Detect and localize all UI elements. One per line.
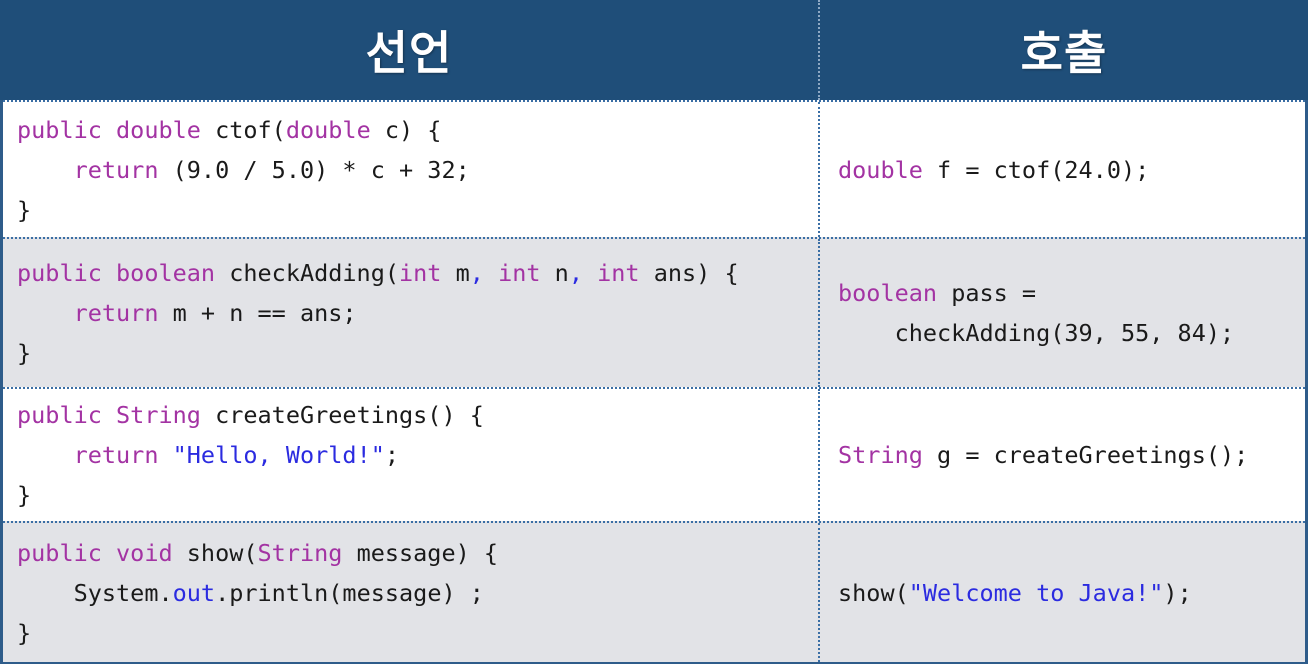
code-token: boolean xyxy=(838,279,937,307)
code-line: String g = createGreetings(); xyxy=(838,435,1305,475)
code-token: m xyxy=(441,259,469,287)
code-line: } xyxy=(17,190,818,230)
code-token: System. xyxy=(17,579,173,607)
code-token xyxy=(17,441,74,469)
code-line: checkAdding(39, 55, 84); xyxy=(838,313,1305,353)
code-token: "Hello, World!" xyxy=(173,441,385,469)
code-token: show( xyxy=(173,539,258,567)
code-line: System.out.println(message) ; xyxy=(17,573,818,613)
code-token xyxy=(17,156,74,184)
code-line: public String createGreetings() { xyxy=(17,395,818,435)
code-token: public boolean xyxy=(17,259,215,287)
code-token: , xyxy=(470,259,484,287)
code-token: n xyxy=(541,259,569,287)
code-token: f = ctof(24.0); xyxy=(923,156,1149,184)
code-token: out xyxy=(173,579,215,607)
table-body: public double ctof(double c) { return (9… xyxy=(0,100,1308,664)
code-token: return xyxy=(74,299,159,327)
code-token: ctof( xyxy=(201,116,286,144)
code-token: int xyxy=(498,259,540,287)
code-token: c) { xyxy=(371,116,442,144)
cell-call: double f = ctof(24.0); xyxy=(818,102,1305,237)
column-header-call-label: 호출 xyxy=(1021,17,1108,83)
code-token: m + n == ans; xyxy=(158,299,356,327)
table-header-row: 선언 호출 xyxy=(0,0,1308,100)
table-row: public boolean checkAdding(int m, int n,… xyxy=(3,237,1305,387)
code-token: ans) { xyxy=(640,259,739,287)
code-token: , xyxy=(569,259,583,287)
cell-declaration: public double ctof(double c) { return (9… xyxy=(3,102,818,237)
code-line: double f = ctof(24.0); xyxy=(838,150,1305,190)
code-token: double xyxy=(286,116,371,144)
column-header-declaration-label: 선언 xyxy=(366,17,453,83)
code-token: double xyxy=(838,156,923,184)
code-token: } xyxy=(17,619,31,647)
table-row: public double ctof(double c) { return (9… xyxy=(3,100,1305,237)
column-header-declaration: 선언 xyxy=(0,0,818,100)
column-header-call: 호출 xyxy=(818,0,1308,100)
code-token: } xyxy=(17,481,31,509)
cell-declaration: public boolean checkAdding(int m, int n,… xyxy=(3,239,818,387)
code-line: } xyxy=(17,613,818,653)
code-token: pass = xyxy=(937,279,1036,307)
code-token: public String xyxy=(17,401,201,429)
code-token: } xyxy=(17,196,31,224)
code-token: String xyxy=(838,441,923,469)
cell-declaration: public String createGreetings() { return… xyxy=(3,389,818,521)
code-token: checkAdding( xyxy=(215,259,399,287)
code-token: createGreetings() { xyxy=(201,401,484,429)
code-token: public double xyxy=(17,116,201,144)
code-token: checkAdding(39, 55, 84); xyxy=(838,319,1234,347)
code-token: "Welcome to Java!" xyxy=(909,579,1164,607)
code-token: ); xyxy=(1163,579,1191,607)
code-token: } xyxy=(17,339,31,367)
code-token: ; xyxy=(385,441,399,469)
code-token: message) { xyxy=(342,539,498,567)
code-token: .println(message) ; xyxy=(215,579,484,607)
code-line: public void show(String message) { xyxy=(17,533,818,573)
java-methods-table: 선언 호출 public double ctof(double c) { ret… xyxy=(0,0,1308,664)
code-line: show("Welcome to Java!"); xyxy=(838,573,1305,613)
code-token: g = createGreetings(); xyxy=(923,441,1248,469)
code-token: show( xyxy=(838,579,909,607)
code-token: int xyxy=(399,259,441,287)
code-line: } xyxy=(17,333,818,373)
code-line: return m + n == ans; xyxy=(17,293,818,333)
code-token xyxy=(583,259,597,287)
code-line: public boolean checkAdding(int m, int n,… xyxy=(17,253,818,293)
code-line: } xyxy=(17,475,818,515)
code-token: return xyxy=(74,441,159,469)
cell-declaration: public void show(String message) { Syste… xyxy=(3,523,818,662)
code-line: public double ctof(double c) { xyxy=(17,110,818,150)
code-token: return xyxy=(74,156,159,184)
code-line: boolean pass = xyxy=(838,273,1305,313)
code-token xyxy=(158,441,172,469)
cell-call: boolean pass = checkAdding(39, 55, 84); xyxy=(818,239,1305,387)
cell-call: String g = createGreetings(); xyxy=(818,389,1305,521)
code-token: String xyxy=(258,539,343,567)
cell-call: show("Welcome to Java!"); xyxy=(818,523,1305,662)
table-row: public void show(String message) { Syste… xyxy=(3,521,1305,662)
code-token: int xyxy=(597,259,639,287)
code-token xyxy=(484,259,498,287)
code-token: (9.0 / 5.0) * c + 32; xyxy=(158,156,469,184)
code-token xyxy=(17,299,74,327)
code-line: return (9.0 / 5.0) * c + 32; xyxy=(17,150,818,190)
code-token: public void xyxy=(17,539,173,567)
code-line: return "Hello, World!"; xyxy=(17,435,818,475)
table-row: public String createGreetings() { return… xyxy=(3,387,1305,521)
